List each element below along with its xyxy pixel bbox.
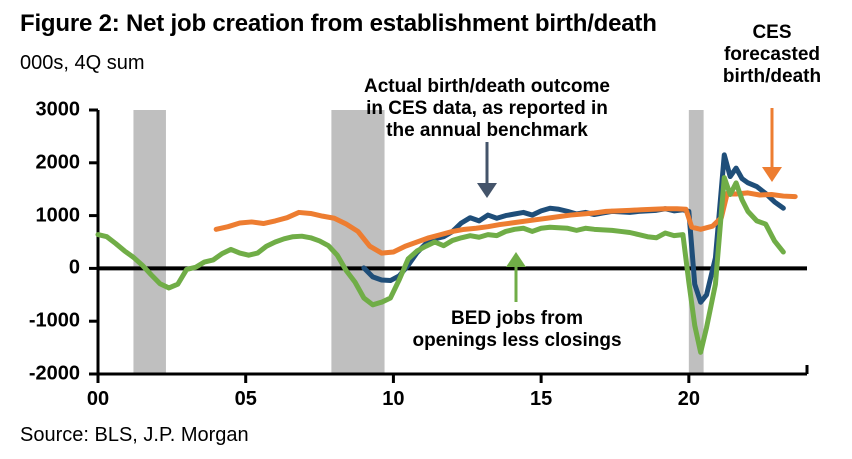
recession-band <box>331 110 384 374</box>
data-series-line <box>216 193 795 253</box>
x-axis-tick-label: 10 <box>363 388 423 411</box>
figure-container: Figure 2: Net job creation from establis… <box>0 0 852 459</box>
y-axis-tick-label: 1000 <box>2 204 80 227</box>
annotation-ces-line3: birth/death <box>700 66 844 88</box>
x-axis-tick-label: 05 <box>216 388 276 411</box>
x-axis-tick-label: 00 <box>68 388 128 411</box>
y-axis-tick-label: 2000 <box>2 151 80 174</box>
x-axis-tick-label: 20 <box>659 388 719 411</box>
annotation-arrow-forecast <box>762 108 782 182</box>
recession-band <box>133 110 165 374</box>
x-axis-tick-label: 15 <box>511 388 571 411</box>
y-axis-tick-label: -1000 <box>2 310 80 333</box>
y-axis-tick-label: 3000 <box>2 99 80 122</box>
annotation-ces-forecast: CES forecasted birth/death <box>700 22 844 88</box>
annotation-ces-line1: CES <box>700 22 844 44</box>
annotation-bed-line1: BED jobs from <box>392 308 642 330</box>
annotation-actual-line2: in CES data, as reported in <box>352 98 622 120</box>
annotation-bed-jobs: BED jobs from openings less closings <box>392 308 642 352</box>
annotation-actual-line1: Actual birth/death outcome <box>352 76 622 98</box>
annotation-actual-line3: the annual benchmark <box>352 120 622 142</box>
annotation-actual-outcome: Actual birth/death outcome in CES data, … <box>352 76 622 142</box>
annotation-arrow-bed <box>506 252 526 302</box>
annotation-bed-line2: openings less closings <box>392 330 642 352</box>
y-axis-tick-label: -2000 <box>2 363 80 386</box>
annotation-arrow-actual <box>477 142 497 198</box>
annotation-ces-line2: forecasted <box>700 44 844 66</box>
y-axis-tick-label: 0 <box>2 257 80 280</box>
